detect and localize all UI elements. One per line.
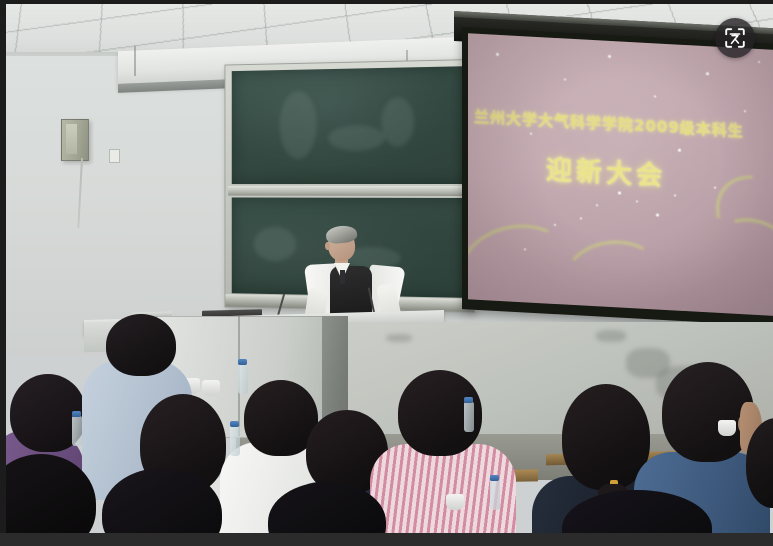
electrical-box-face [66, 124, 77, 154]
water-bottle [464, 402, 474, 432]
translate-icon [723, 26, 747, 50]
water-bottle [72, 416, 82, 446]
image-viewer: 兰州大学大气科学学院2009级本科生 迎新大会 [0, 0, 773, 546]
wall-outlet [109, 149, 120, 163]
water-bottle [238, 364, 248, 394]
bottle-cap [238, 359, 247, 365]
valance-seam [134, 46, 136, 76]
bottle-cap [464, 397, 473, 403]
bottle-cap [490, 475, 499, 481]
paper-cup [202, 380, 220, 396]
bottle-cap [230, 421, 239, 427]
blackboard-panel-upper [232, 66, 467, 184]
screen-surface: 兰州大学大气科学学院2009级本科生 迎新大会 [468, 33, 773, 316]
photograph[interactable]: 兰州大学大气科学学院2009级本科生 迎新大会 [6, 4, 773, 533]
audience [6, 322, 773, 533]
screen-vignette [468, 33, 773, 316]
audience-head [106, 314, 176, 376]
translate-icon-button[interactable] [715, 18, 755, 58]
water-bottle [490, 480, 500, 510]
water-bottle [230, 426, 240, 456]
blackboard-rail [228, 186, 471, 196]
paper-cup [718, 420, 736, 436]
speaker-tie [340, 270, 345, 284]
bottle-cap [72, 411, 81, 417]
projection-screen: 兰州大学大气科学学院2009级本科生 迎新大会 [458, 22, 773, 322]
paper-cup [446, 494, 464, 510]
photo-frame: 兰州大学大气科学学院2009级本科生 迎新大会 [0, 0, 773, 533]
viewer-bottom-bar [0, 533, 773, 546]
speaker-ear [325, 242, 330, 250]
